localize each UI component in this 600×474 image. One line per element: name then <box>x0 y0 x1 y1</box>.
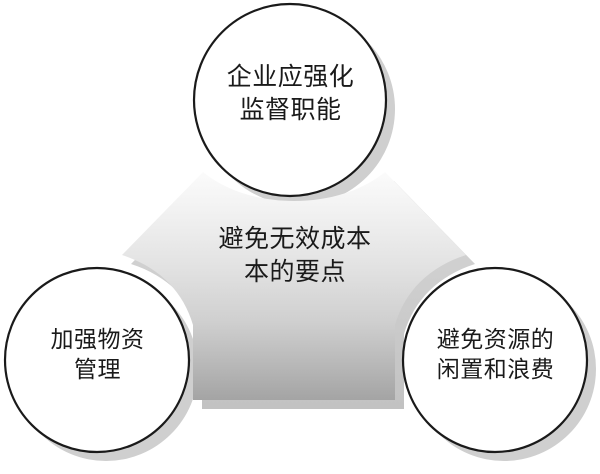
diagram-svg <box>0 0 600 474</box>
node-circle-right[interactable] <box>403 268 587 452</box>
node-circle-top[interactable] <box>194 4 386 196</box>
node-circle-left[interactable] <box>5 268 189 452</box>
diagram-canvas: 企业应强化 监督职能 加强物资 管理 避免资源的 闲置和浪费 避免无效成本 本的… <box>0 0 600 474</box>
